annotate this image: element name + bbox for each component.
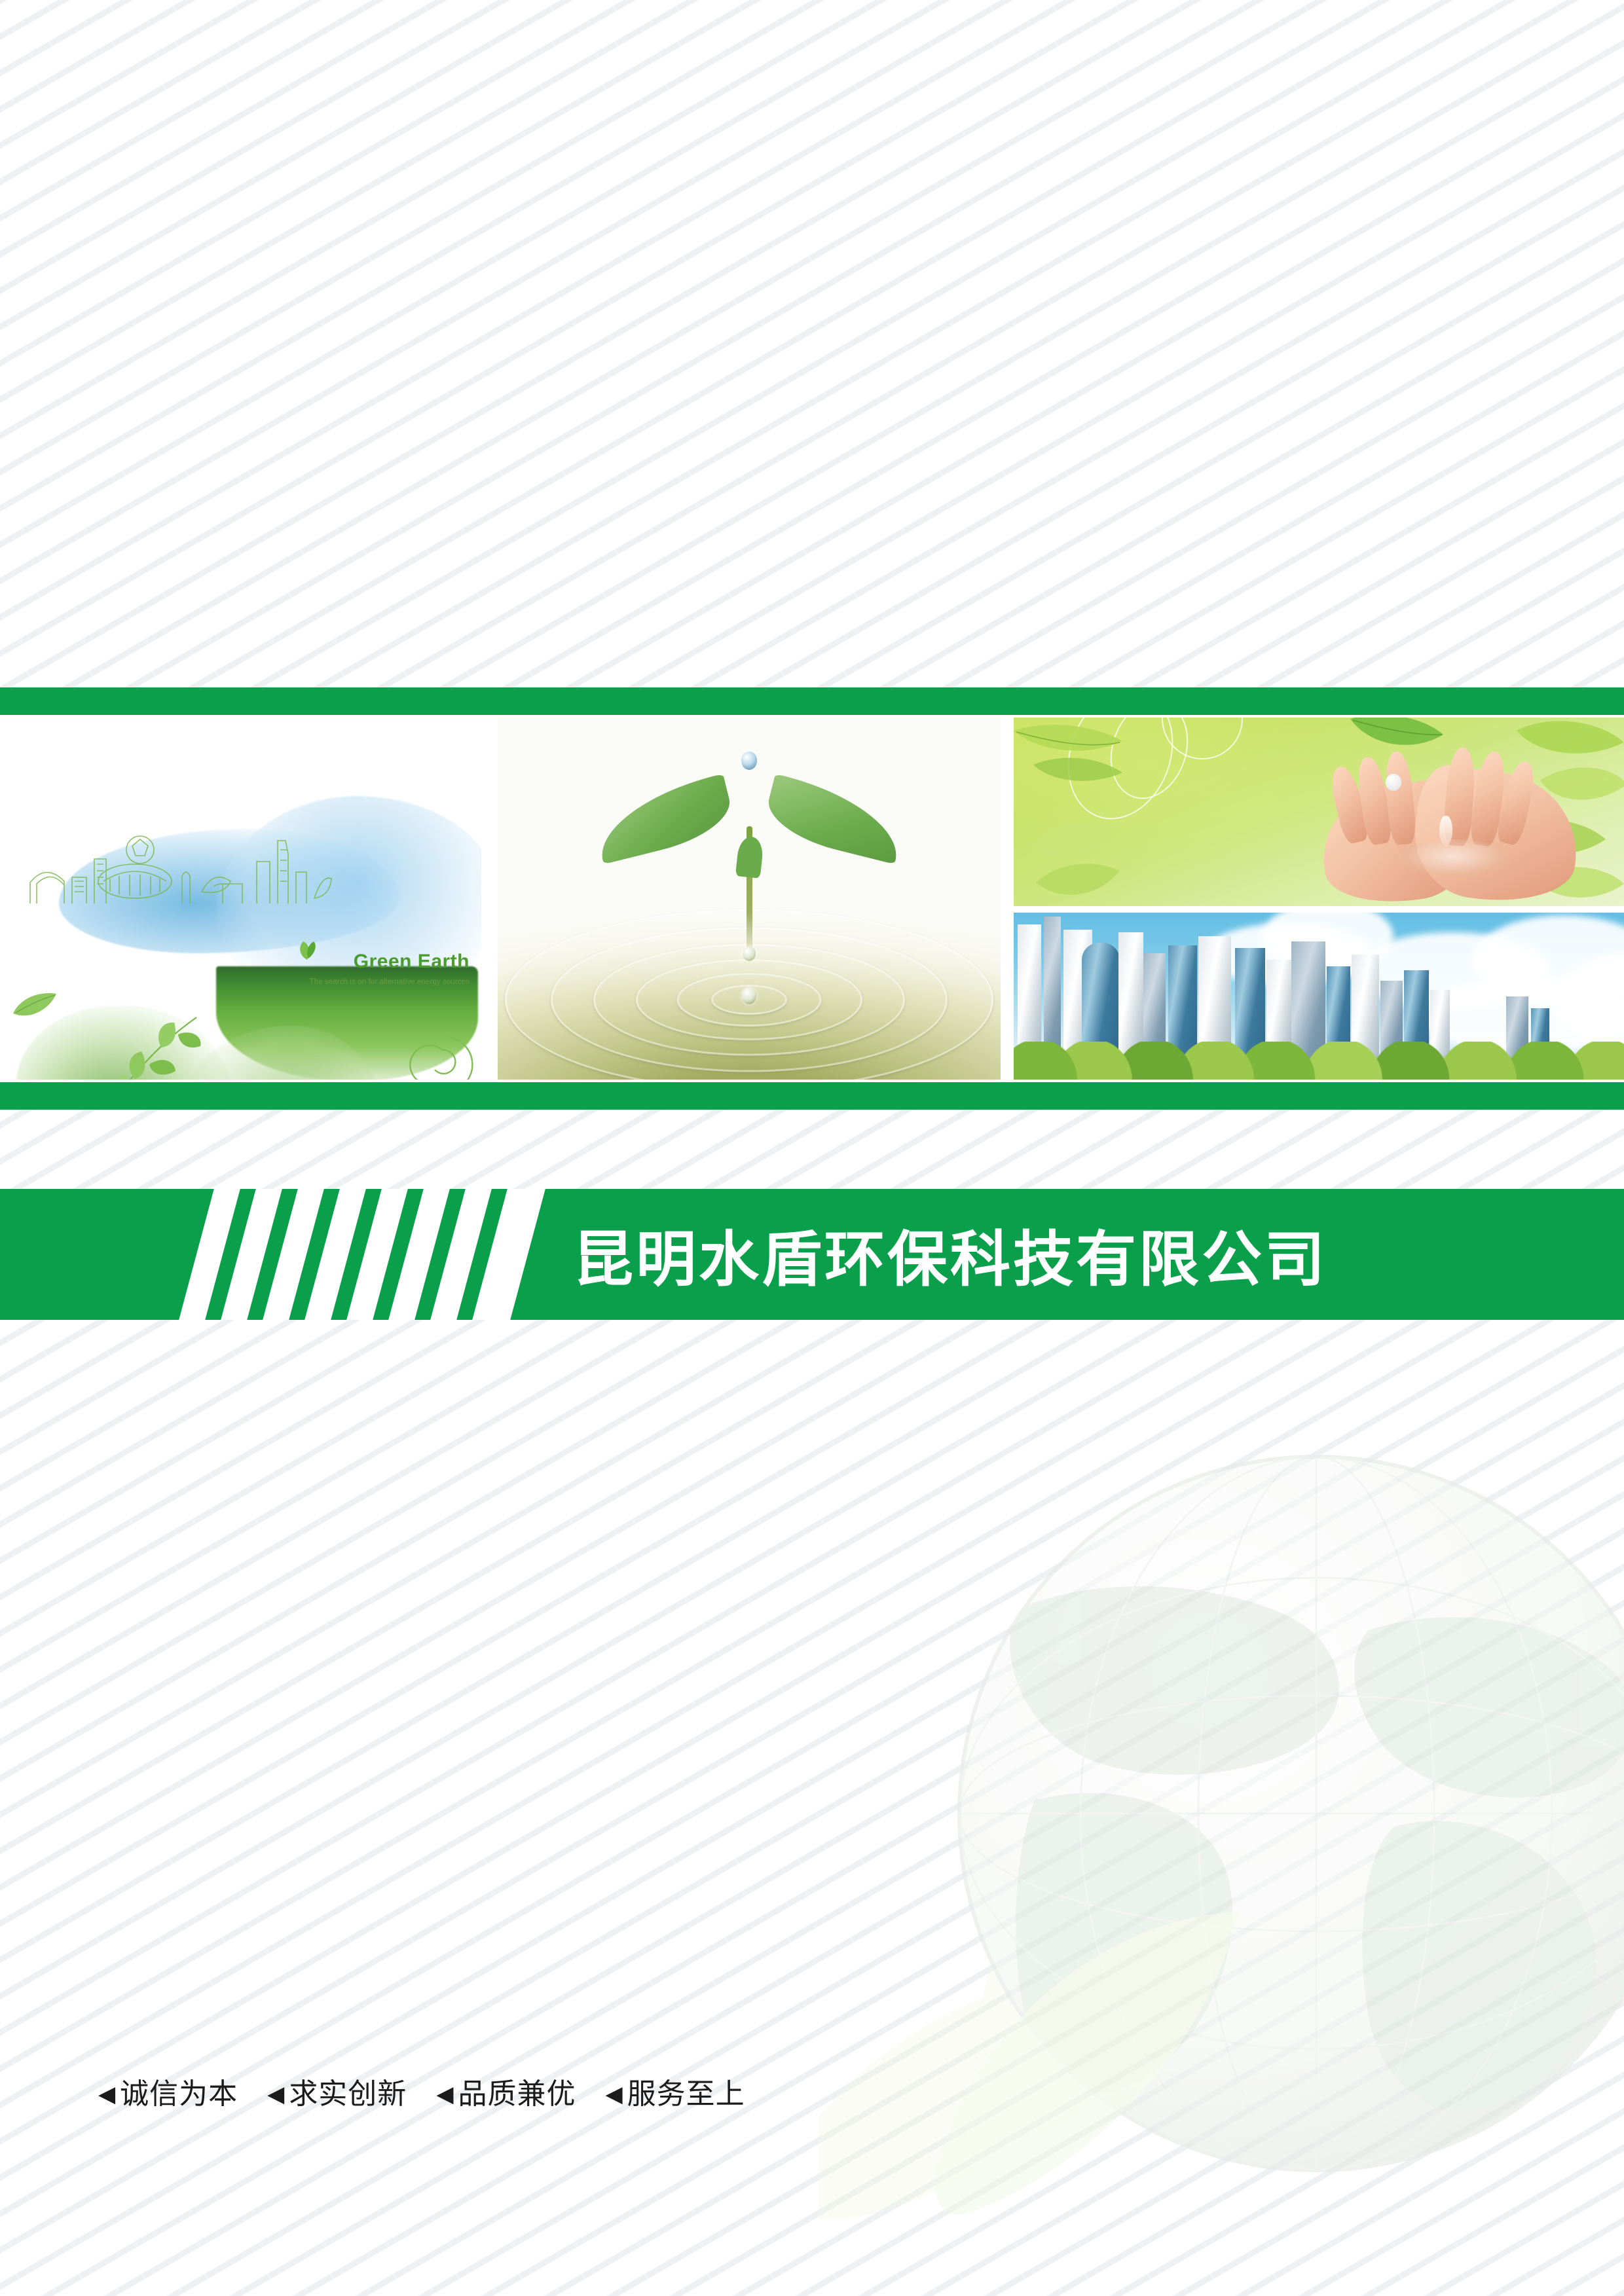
photo-hands-droplet — [1014, 718, 1624, 906]
slogan-text: 诚信为本 — [120, 2077, 238, 2111]
photo-strip: Green Earth The search is on for alterna… — [0, 687, 1624, 1110]
slogan-item-2: ◀求实创新 — [267, 2077, 416, 2111]
photo-sprout-water — [498, 718, 1001, 1080]
leaf-icon — [12, 991, 58, 1020]
leaf-sprig-icon — [98, 1006, 223, 1080]
slogan-text: 求实创新 — [289, 2077, 407, 2111]
leaf-cluster-icon — [1018, 791, 1149, 906]
slogan-item-3: ◀品质兼优 — [436, 2077, 585, 2111]
tree-line — [1014, 1042, 1624, 1080]
arrow-left-icon: ◀ — [267, 2081, 285, 2107]
palm-ripple — [1397, 839, 1510, 877]
water-droplet-splash — [742, 987, 756, 1004]
page-background — [0, 0, 1624, 2296]
water-droplet-falling — [1386, 774, 1401, 791]
green-earth-title: Green Earth — [354, 951, 470, 973]
arrow-left-icon: ◀ — [605, 2081, 623, 2107]
water-droplet-mid — [743, 947, 756, 961]
water-droplet-falling — [741, 752, 757, 770]
slogan-item-4: ◀服务至上 — [605, 2077, 745, 2111]
photo-strip-bottom-rule — [0, 1082, 1624, 1110]
arrow-left-icon: ◀ — [98, 2081, 116, 2107]
sketch-skyline-icon — [26, 835, 334, 907]
slogan-text: 品质兼优 — [458, 2077, 576, 2111]
company-name: 昆明水盾环保科技有限公司 — [573, 1211, 1327, 1298]
green-earth-leaf-icon — [297, 940, 319, 961]
slogan-item-1: ◀诚信为本 — [98, 2077, 248, 2111]
slogan-text: 服务至上 — [627, 2077, 745, 2111]
banner-stripe-group — [196, 1189, 524, 1320]
building — [1044, 917, 1061, 1062]
arrow-left-icon: ◀ — [436, 2081, 454, 2107]
photo-green-earth: Green Earth The search is on for alterna… — [0, 718, 481, 1080]
company-name-banner: 昆明水盾环保科技有限公司 — [0, 1189, 1624, 1320]
droplet-in-palm — [1439, 816, 1452, 846]
spiral-icon — [406, 1025, 481, 1080]
photo-strip-top-rule — [0, 687, 1624, 715]
green-earth-subtitle: The search is on for alternative energy … — [310, 978, 470, 986]
slogan-bar: ◀诚信为本 ◀求实创新 ◀品质兼优 ◀服务至上 — [98, 2070, 765, 2112]
photo-city-skyline — [1014, 913, 1624, 1080]
